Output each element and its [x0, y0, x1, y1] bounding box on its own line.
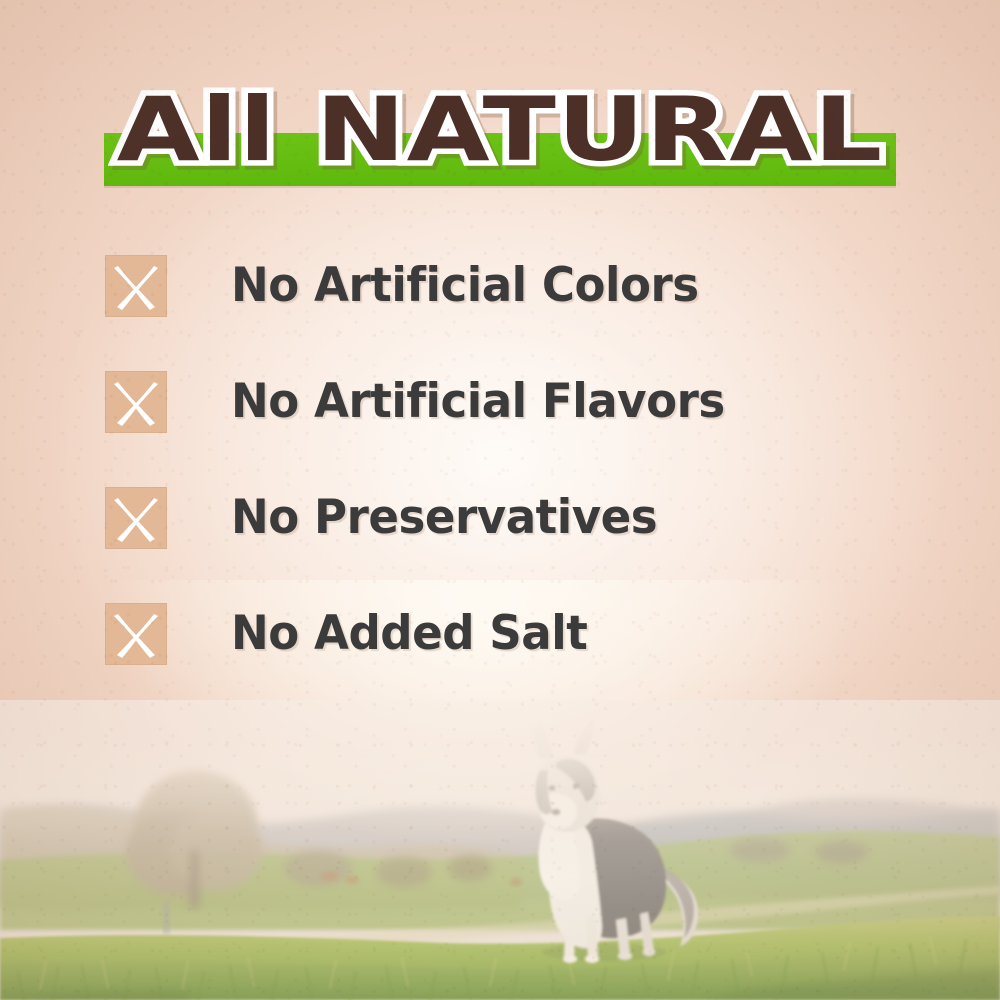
meadow-dog-photo	[0, 700, 1000, 1000]
photo-illustration	[0, 700, 1000, 1000]
x-mark-icon	[105, 371, 167, 433]
x-mark-icon	[105, 255, 167, 317]
list-item: No Artificial Colors	[105, 255, 945, 317]
poster-canvas: All NATURAL No Artificial Colors No Arti…	[0, 0, 1000, 1000]
claims-checklist: No Artificial Colors No Artificial Flavo…	[105, 255, 945, 719]
list-item: No Artificial Flavors	[105, 371, 945, 433]
list-item-label: No Preservatives	[231, 487, 657, 549]
list-item-label: No Artificial Colors	[231, 255, 699, 317]
x-mark-glyph	[105, 603, 167, 665]
list-item: No Added Salt	[105, 603, 945, 665]
list-item-label: No Added Salt	[231, 603, 587, 665]
x-mark-glyph	[105, 255, 167, 317]
headline-block: All NATURAL	[0, 74, 1000, 200]
x-mark-glyph	[105, 487, 167, 549]
list-item-label: No Artificial Flavors	[231, 371, 725, 433]
x-mark-icon	[105, 603, 167, 665]
list-item: No Preservatives	[105, 487, 945, 549]
x-mark-glyph	[105, 371, 167, 433]
page-title: All NATURAL	[0, 74, 1000, 186]
x-mark-icon	[105, 487, 167, 549]
